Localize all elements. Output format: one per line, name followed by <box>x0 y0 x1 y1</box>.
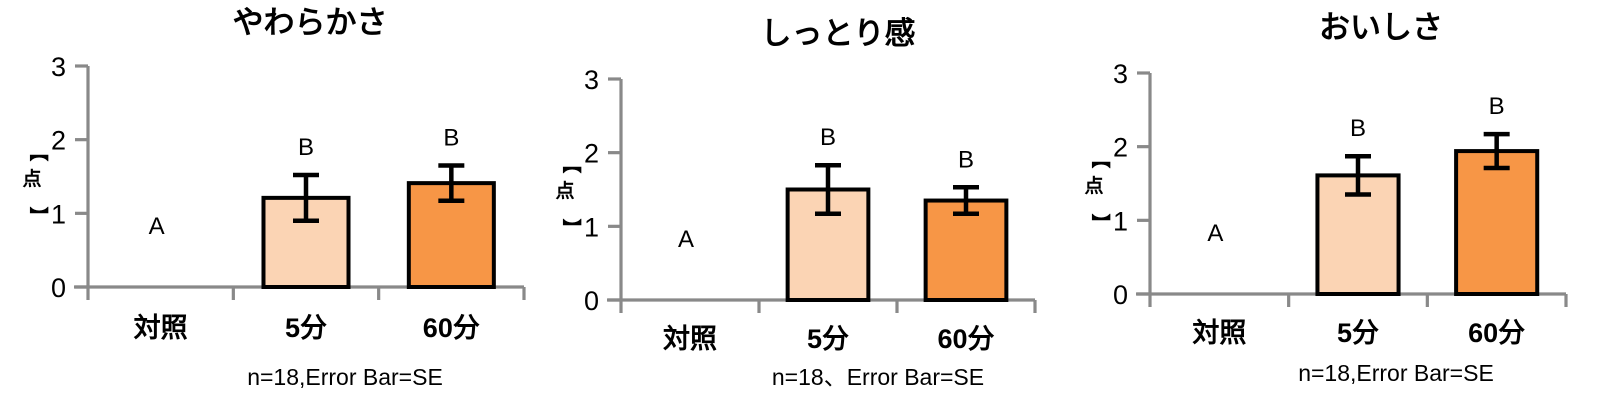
y-tick-label: 2 <box>584 139 599 169</box>
y-axis-title-char: 点 <box>22 168 41 190</box>
y-axis-title: 【点】 <box>555 154 583 237</box>
x-category-label-60分: 60分 <box>937 324 994 354</box>
chart-svg-softness: やわらかさ0123【点】A対照B5分B60分n=18,Error Bar=SE <box>0 0 533 403</box>
y-axis-title-char: 点 <box>555 180 574 202</box>
y-tick-label: 1 <box>1113 206 1128 236</box>
x-category-label-対照: 対照 <box>134 313 188 343</box>
chart-svg-tastiness: おいしさ0123【点】A対照B5分B60分n=18,Error Bar=SE <box>1066 0 1599 403</box>
significance-letter-60分: B <box>1489 93 1505 120</box>
significance-letter-60分: B <box>443 124 459 151</box>
y-tick-label: 3 <box>51 52 66 82</box>
y-axis-title-close-bracket: 】 <box>1089 213 1112 232</box>
footnote-1: n=18、Error Bar=SE <box>772 364 984 390</box>
y-axis-title-open-bracket: 【 <box>27 142 50 161</box>
x-category-label-60分: 60分 <box>423 313 480 343</box>
y-tick-label: 3 <box>584 65 599 95</box>
y-axis-title: 【点】 <box>1084 149 1112 232</box>
x-category-label-対照: 対照 <box>663 324 717 354</box>
panel-0-content: やわらかさ0123【点】A対照B5分B60分n=18,Error Bar=SE <box>22 5 524 390</box>
significance-letter-対照: A <box>1207 220 1223 247</box>
footnote-2: n=18,Error Bar=SE <box>1298 360 1494 386</box>
chart-svg-moistness: しっとり感0123【点】A対照B5分B60分n=18、Error Bar=SE <box>533 0 1066 403</box>
y-tick-label: 0 <box>1113 280 1128 310</box>
x-category-label-60分: 60分 <box>1468 318 1525 348</box>
y-tick-label: 2 <box>51 126 66 156</box>
x-category-label-5分: 5分 <box>807 324 849 354</box>
y-tick-label: 1 <box>51 199 66 229</box>
significance-letter-5分: B <box>298 134 314 161</box>
y-tick-label: 3 <box>1113 59 1128 89</box>
panel-title-bar-1: しっとり感 <box>761 16 916 51</box>
chart-panel-moistness: しっとり感0123【点】A対照B5分B60分n=18、Error Bar=SE <box>533 0 1066 403</box>
bar-60分 <box>1456 151 1537 294</box>
y-axis-title: 【点】 <box>22 142 50 225</box>
footnote-0: n=18,Error Bar=SE <box>247 364 443 390</box>
significance-letter-対照: A <box>678 226 694 253</box>
y-axis-title-close-bracket: 】 <box>560 218 583 237</box>
y-axis-title-open-bracket: 【 <box>1089 149 1112 168</box>
x-category-label-5分: 5分 <box>285 313 327 343</box>
y-axis-title-close-bracket: 】 <box>27 206 50 225</box>
y-axis-title-open-bracket: 【 <box>560 154 583 173</box>
multi-panel-bar-chart-figure: やわらかさ0123【点】A対照B5分B60分n=18,Error Bar=SE … <box>0 0 1599 403</box>
panel-title-bar-0: やわらかさ <box>233 5 388 40</box>
y-tick-label: 0 <box>584 286 599 316</box>
significance-letter-5分: B <box>820 124 836 151</box>
panel-title-bar-2: おいしさ <box>1319 10 1443 45</box>
y-tick-label: 0 <box>51 273 66 303</box>
significance-letter-対照: A <box>149 213 165 240</box>
y-tick-label: 1 <box>584 212 599 242</box>
y-tick-label: 2 <box>1113 133 1128 163</box>
chart-panel-softness: やわらかさ0123【点】A対照B5分B60分n=18,Error Bar=SE <box>0 0 533 403</box>
significance-letter-60分: B <box>958 146 974 173</box>
y-axis-title-char: 点 <box>1084 175 1103 197</box>
panel-2-content: おいしさ0123【点】A対照B5分B60分n=18,Error Bar=SE <box>1084 10 1566 386</box>
x-category-label-対照: 対照 <box>1192 318 1246 348</box>
x-category-label-5分: 5分 <box>1337 318 1379 348</box>
panel-1-content: しっとり感0123【点】A対照B5分B60分n=18、Error Bar=SE <box>555 16 1035 390</box>
significance-letter-5分: B <box>1350 115 1366 142</box>
chart-panel-tastiness: おいしさ0123【点】A対照B5分B60分n=18,Error Bar=SE <box>1066 0 1599 403</box>
